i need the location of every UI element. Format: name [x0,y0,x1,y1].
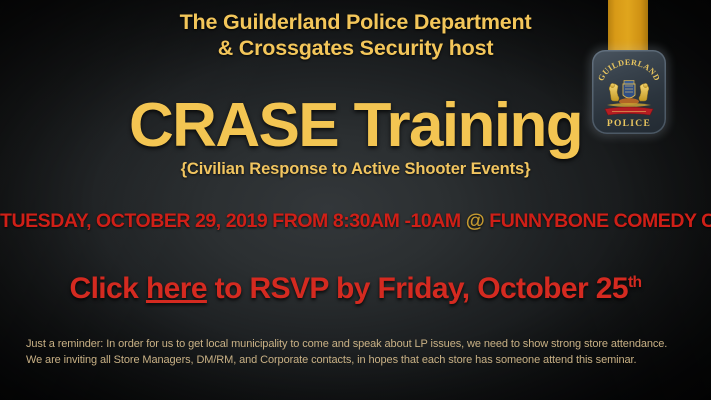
fineprint-note: Just a reminder: In order for us to get … [26,336,686,368]
rsvp-link[interactable]: here [146,272,207,305]
rsvp-call-to-action[interactable]: Click here to RSVP by Friday, October 25… [0,272,711,306]
rsvp-date-ordinal: th [628,274,642,291]
page-title: CRASE Training [0,90,711,161]
rsvp-prefix-text: Click [70,272,146,305]
svg-text:GUILDERLAND: GUILDERLAND [596,58,661,83]
fineprint-line2: We are inviting all Store Managers, DM/R… [26,352,686,368]
badge-top-text: GUILDERLAND [596,58,661,83]
at-symbol-icon: @ [466,210,485,232]
page-subtitle: {Civilian Response to Active Shooter Eve… [0,160,711,179]
event-details-line: TUESDAY, OCTOBER 29, 2019 FROM 8:30AM -1… [0,210,711,233]
event-datetime-text: TUESDAY, OCTOBER 29, 2019 FROM 8:30AM -1… [0,210,466,232]
rsvp-middle-text: to RSVP by Friday, October 25 [207,272,628,305]
host-heading: The Guilderland Police Department & Cros… [0,9,711,61]
event-venue-text: FUNNYBONE COMEDY CLUB [484,210,711,232]
fineprint-line1: Just a reminder: In order for us to get … [26,336,686,352]
host-heading-line1: The Guilderland Police Department [180,10,532,34]
host-heading-line2: & Crossgates Security host [0,35,711,61]
crase-training-flyer: GUILDERLAND POLICE The Guilderland Pol [0,0,711,400]
